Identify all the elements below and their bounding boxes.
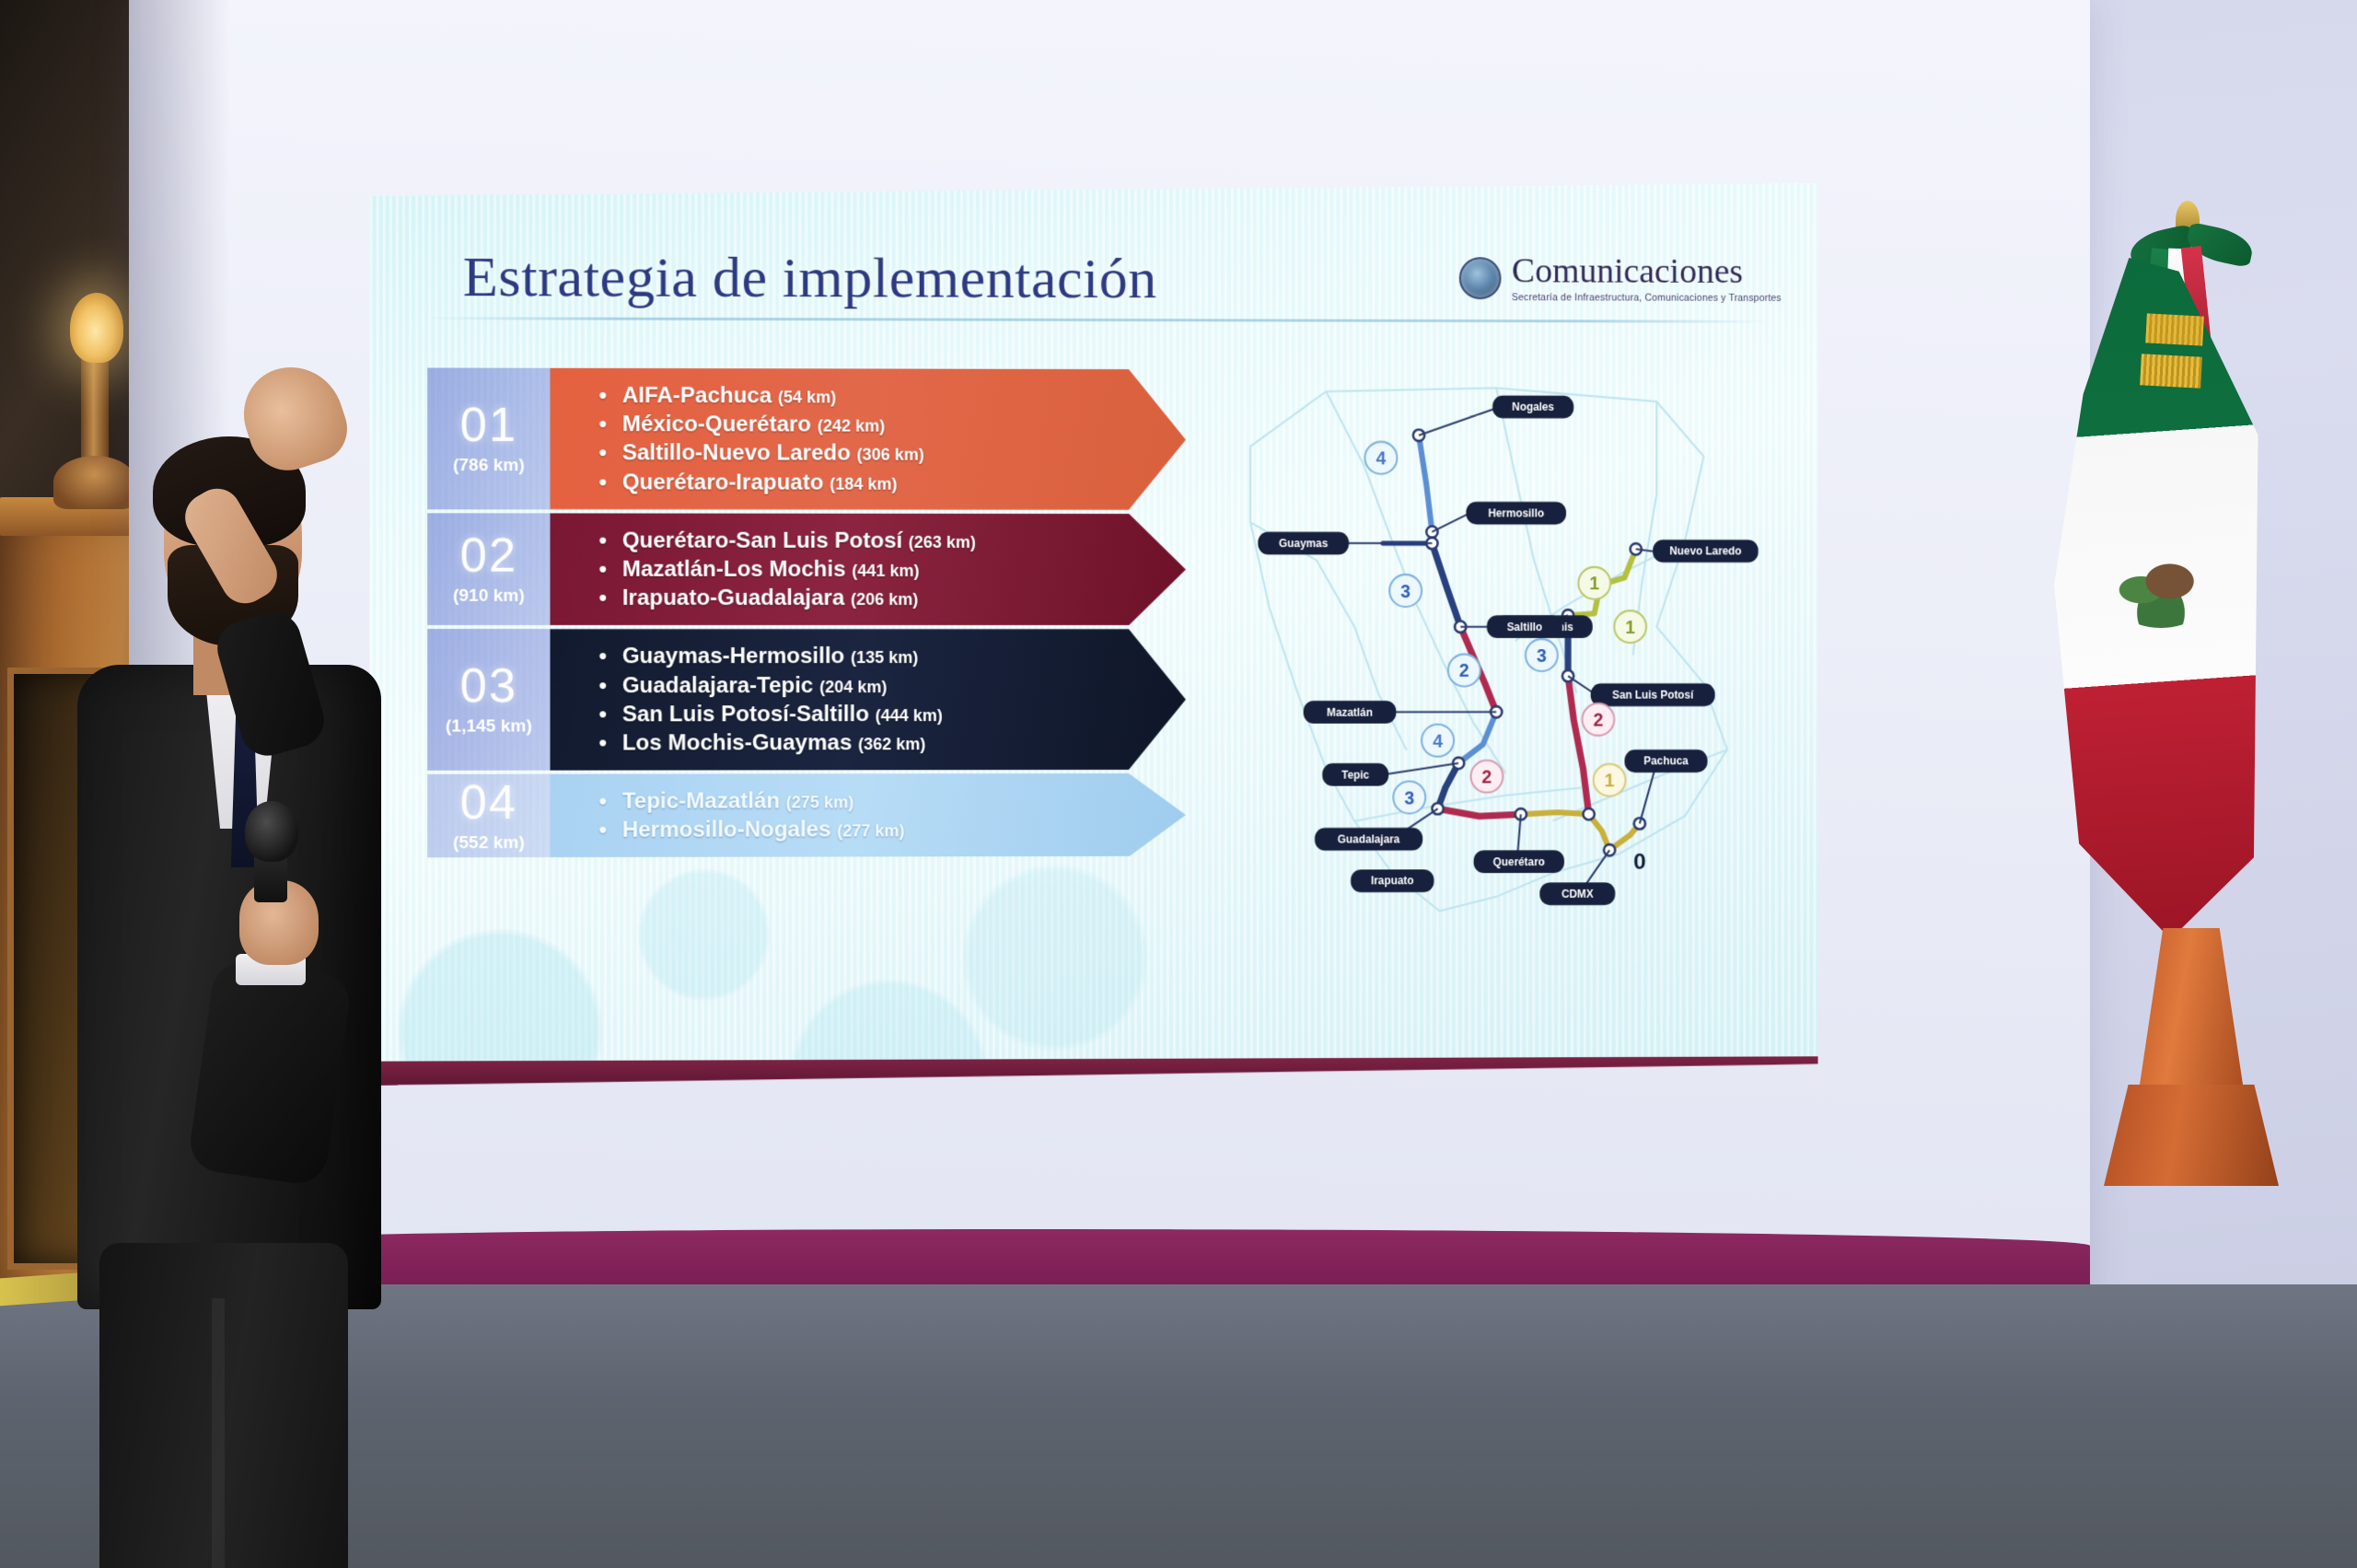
map-city-label: Guadalajara — [1315, 828, 1422, 851]
map-stage-badge: 2 — [1448, 655, 1480, 687]
route-name: Los Mochis-Guaymas — [622, 730, 852, 755]
bullet-icon: ● — [598, 591, 608, 606]
route-item: ● México-Querétaro (242 km) — [598, 410, 1177, 439]
route-km: (362 km) — [858, 735, 925, 753]
flag-gold-fringe-upper — [2145, 313, 2204, 345]
svg-text:4: 4 — [1376, 449, 1387, 470]
gold-picture-frame — [0, 755, 57, 1234]
svg-text:3: 3 — [1404, 788, 1414, 808]
route-km: (306 km) — [857, 446, 924, 464]
map-stage-badge: 2 — [1470, 761, 1503, 793]
svg-text:Tepic: Tepic — [1341, 769, 1369, 782]
presenter-lower-arm — [187, 958, 354, 1188]
svg-text:CDMX: CDMX — [1562, 888, 1594, 900]
microphone-icon — [245, 801, 298, 862]
route-item: ● Guaymas-Hermosillo (135 km) — [598, 642, 1177, 670]
route-item: ● Guadalajara-Tepic (204 km) — [598, 670, 1177, 700]
stage-total-km: (552 km) — [453, 833, 525, 854]
mexican-flag — [2049, 201, 2325, 1306]
route-name: México-Querétaro — [622, 412, 811, 436]
flag-stand-base — [2104, 1085, 2279, 1186]
bullet-icon: ● — [598, 823, 608, 838]
map-city-labels: Nogales Hermosillo Guaymas Los Mochis Ma… — [1258, 395, 1758, 906]
stage-number: 04 — [460, 778, 517, 826]
route-name: Guadalajara-Tepic — [622, 673, 814, 698]
svg-text:4: 4 — [1433, 732, 1443, 752]
route-km: (204 km) — [819, 678, 887, 696]
svg-text:2: 2 — [1593, 711, 1603, 731]
stage-number-box: 01 (786 km) — [427, 367, 550, 509]
route-item: ● Mazatlán-Los Mochis (441 km) — [598, 555, 1177, 585]
mexico-rail-map: Nogales Hermosillo Guaymas Los Mochis Ma… — [1184, 342, 1770, 931]
flag-coat-of-arms-icon — [2106, 543, 2216, 628]
route-line-stage2-bajio — [1438, 808, 1521, 816]
route-km: (441 km) — [852, 562, 919, 580]
stage-row: 03 (1,145 km) ● Guaymas-Hermosillo (135 … — [427, 629, 1186, 771]
map-stage-badge: 1 — [1594, 764, 1626, 796]
svg-text:Mazatlán: Mazatlán — [1327, 706, 1373, 719]
press-conference-scene: Estrategia de implementación Comunicacio… — [0, 0, 2357, 1568]
bullet-icon: ● — [598, 795, 608, 809]
bullet-icon: ● — [598, 389, 608, 403]
route-name: Saltillo-Nuevo Laredo — [622, 441, 851, 466]
route-item: ● Tepic-Mazatlán (275 km) — [598, 786, 1177, 816]
stage-number-box: 02 (910 km) — [427, 513, 550, 625]
route-line-stage1-qro — [1521, 812, 1589, 814]
route-item: ● AIFA-Pachuca (54 km) — [598, 381, 1177, 411]
stage-row: 01 (786 km) ● AIFA-Pachuca (54 km) ● Méx… — [427, 367, 1186, 509]
route-line-stage4-north — [1419, 436, 1432, 532]
stage-number: 01 — [460, 401, 517, 449]
presenter-trousers — [99, 1243, 348, 1568]
stage-total-km: (910 km) — [453, 587, 525, 607]
stage-routes: ● Querétaro-San Luis Potosí (263 km) ● M… — [551, 513, 1186, 625]
stage-total-km: (786 km) — [453, 456, 525, 476]
route-name: Mazatlán-Los Mochis — [622, 557, 846, 582]
route-name: Tepic-Mazatlán — [622, 788, 780, 813]
svg-text:Irapuato: Irapuato — [1371, 875, 1414, 888]
route-item: ● Hermosillo-Nogales (277 km) — [598, 815, 1177, 844]
bullet-icon: ● — [598, 707, 608, 722]
map-stage-badge: 3 — [1393, 782, 1425, 814]
map-city-label: Nuevo Laredo — [1653, 540, 1758, 563]
implementation-stages-list: 01 (786 km) ● AIFA-Pachuca (54 km) ● Méx… — [427, 367, 1186, 861]
lamp-glow-icon — [70, 293, 123, 363]
route-km: (54 km) — [778, 388, 836, 406]
svg-text:Hermosillo: Hermosillo — [1488, 506, 1544, 519]
svg-text:Querétaro: Querétaro — [1493, 855, 1545, 868]
sict-logo: Comunicaciones Secretaría de Infraestruc… — [1458, 253, 1781, 304]
svg-text:Nogales: Nogales — [1512, 401, 1554, 413]
route-item: ● San Luis Potosí-Saltillo (444 km) — [598, 700, 1177, 729]
logo-subtitle: Secretaría de Infraestructura, Comunicac… — [1512, 292, 1782, 304]
stage-number: 03 — [460, 662, 517, 710]
map-stage-badge: 1 — [1578, 567, 1610, 599]
government-seal-icon — [1458, 257, 1501, 299]
title-divider — [425, 317, 1770, 323]
bullet-icon: ● — [598, 563, 608, 577]
route-name: Querétaro-San Luis Potosí — [622, 528, 902, 552]
page-title: Estrategia de implementación — [463, 245, 1157, 312]
svg-text:Guaymas: Guaymas — [1279, 537, 1329, 550]
map-stage-badge: 2 — [1582, 703, 1614, 736]
projection-screen-wrapper: Estrategia de implementación Comunicacio… — [370, 178, 1818, 1086]
bullet-icon: ● — [598, 533, 608, 548]
flag-gold-fringe-lower — [2140, 354, 2202, 388]
route-name: San Luis Potosí-Saltillo — [622, 702, 869, 726]
stage-row: 04 (552 km) ● Tepic-Mazatlán (275 km) ● … — [427, 773, 1186, 858]
route-line-stage2-slp — [1568, 676, 1589, 814]
svg-text:1: 1 — [1589, 575, 1599, 595]
route-line-stage3-gdl — [1438, 763, 1459, 808]
map-stage-badge: 3 — [1526, 639, 1558, 671]
svg-text:Pachuca: Pachuca — [1643, 755, 1689, 768]
stage-row: 02 (910 km) ● Querétaro-San Luis Potosí … — [427, 513, 1186, 625]
map-city-label: Guaymas — [1258, 532, 1349, 555]
route-item: ● Irapuato-Guadalajara (206 km) — [598, 584, 1177, 612]
stage-number-box: 03 (1,145 km) — [427, 629, 550, 771]
route-km: (444 km) — [876, 706, 943, 725]
route-km: (275 km) — [786, 793, 853, 811]
stage-total-km: (1,145 km) — [446, 717, 532, 738]
svg-text:0: 0 — [1633, 850, 1646, 875]
bullet-icon: ● — [598, 447, 608, 461]
route-name: Guaymas-Hermosillo — [622, 644, 844, 668]
svg-text:1: 1 — [1605, 772, 1615, 792]
map-stage-badge: 3 — [1389, 575, 1422, 607]
map-city-label: Pachuca — [1624, 749, 1707, 772]
bullet-icon: ● — [598, 649, 608, 664]
flag-stand-upper — [2137, 928, 2246, 1103]
svg-text:Guadalajara: Guadalajara — [1338, 833, 1400, 846]
map-stage-badge: 4 — [1422, 725, 1454, 757]
route-name: AIFA-Pachuca — [622, 383, 772, 408]
route-km: (277 km) — [837, 822, 904, 841]
svg-text:Nuevo Laredo: Nuevo Laredo — [1669, 545, 1741, 558]
map-city-label: Hermosillo — [1466, 502, 1566, 525]
bullet-icon: ● — [598, 679, 608, 693]
route-name: Irapuato-Guadalajara — [622, 586, 844, 610]
route-item: ● Querétaro-Irapuato (184 km) — [598, 468, 1177, 497]
bullet-icon: ● — [598, 736, 608, 750]
map-city-label: CDMX — [1539, 882, 1615, 905]
svg-text:3: 3 — [1400, 582, 1411, 602]
route-name: Querétaro-Irapuato — [622, 470, 824, 494]
svg-text:1: 1 — [1625, 618, 1635, 638]
map-city-label: San Luis Potosí — [1591, 683, 1715, 706]
route-km: (263 km) — [909, 533, 976, 552]
bullet-icon: ● — [598, 417, 608, 432]
svg-text:Saltillo: Saltillo — [1507, 621, 1543, 633]
route-km: (242 km) — [818, 417, 885, 436]
route-item: ● Saltillo-Nuevo Laredo (306 km) — [598, 439, 1177, 469]
svg-text:3: 3 — [1537, 646, 1547, 667]
route-item: ● Los Mochis-Guaymas (362 km) — [598, 728, 1177, 758]
map-city-label: Irapuato — [1351, 869, 1434, 892]
stage-routes: ● Guaymas-Hermosillo (135 km) ● Guadalaj… — [551, 629, 1186, 770]
map-city-label: Nogales — [1492, 396, 1573, 419]
route-km: (206 km) — [851, 590, 918, 609]
stage-routes: ● AIFA-Pachuca (54 km) ● México-Querétar… — [551, 368, 1186, 510]
map-city-label: Querétaro — [1474, 850, 1564, 873]
map-city-label: Tepic — [1322, 763, 1388, 786]
map-stage-badge: 1 — [1614, 610, 1646, 643]
route-km: (135 km) — [851, 648, 918, 667]
map-stage-badge: 4 — [1364, 442, 1397, 474]
presenter — [64, 433, 396, 1501]
stage-number-box: 04 (552 km) — [427, 774, 550, 858]
stage-number: 02 — [460, 531, 517, 579]
route-line-stage4-tepic — [1458, 712, 1496, 763]
map-city-label: Mazatlán — [1304, 701, 1397, 724]
stage-routes: ● Tepic-Mazatlán (275 km) ● Hermosillo-N… — [551, 773, 1186, 858]
svg-text:2: 2 — [1482, 768, 1492, 788]
route-name: Hermosillo-Nogales — [622, 818, 831, 842]
svg-text:San Luis Potosí: San Luis Potosí — [1612, 689, 1694, 702]
route-item: ● Querétaro-San Luis Potosí (263 km) — [598, 526, 1177, 555]
route-km: (184 km) — [830, 474, 897, 493]
map-city-label: Saltillo — [1487, 615, 1562, 638]
svg-text:2: 2 — [1459, 661, 1469, 681]
projection-screen: Estrategia de implementación Comunicacio… — [370, 178, 1818, 1086]
logo-name: Comunicaciones — [1512, 253, 1782, 289]
bullet-icon: ● — [598, 475, 608, 490]
